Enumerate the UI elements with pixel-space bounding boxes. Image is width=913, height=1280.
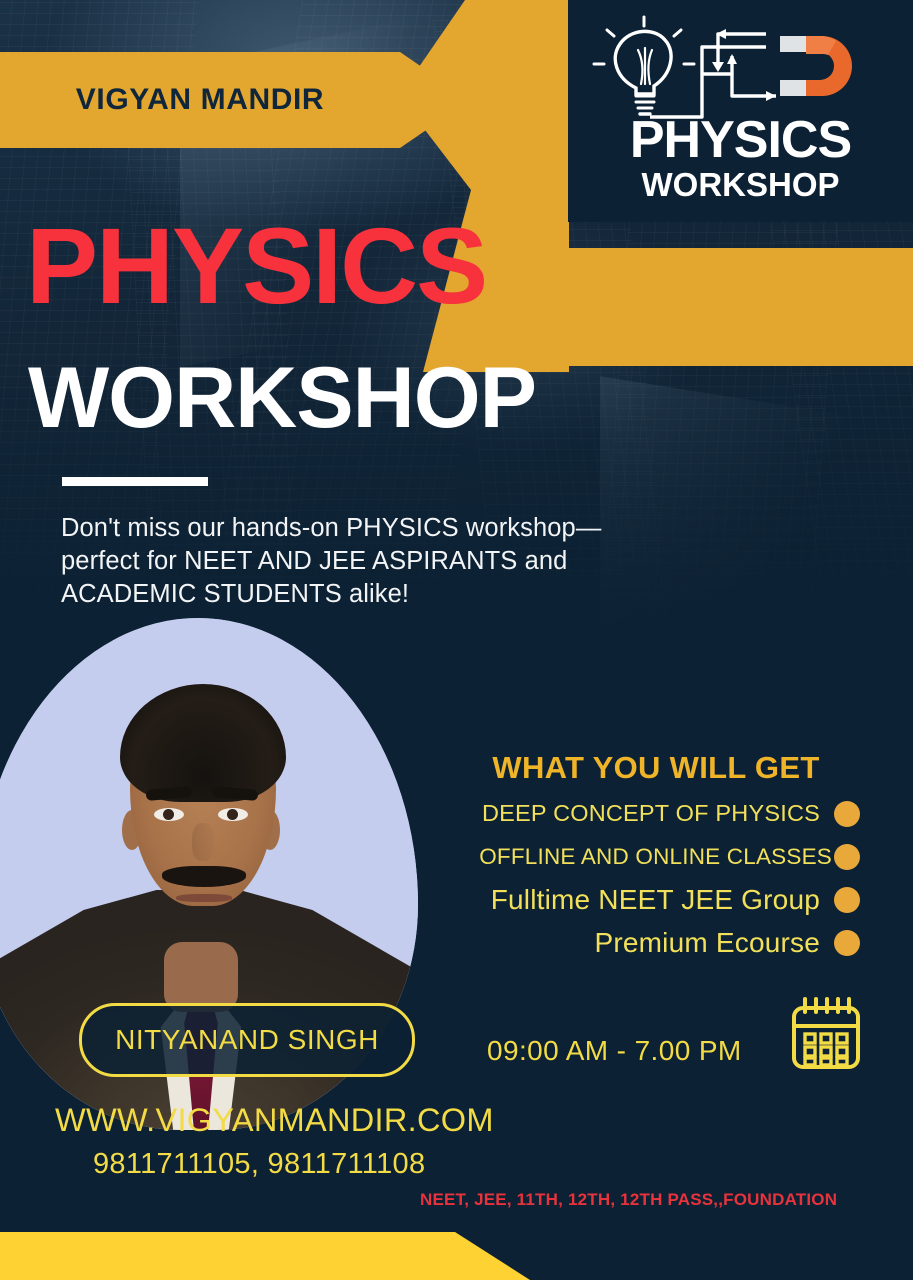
horseshoe-magnet-icon	[780, 36, 852, 96]
description-text: Don't miss our hands-on PHYSICS workshop…	[61, 512, 641, 611]
phone-numbers[interactable]: 9811711105, 9811711108	[93, 1148, 425, 1181]
bullet-dot-icon	[834, 887, 860, 913]
benefit-label: OFFLINE AND ONLINE CLASSES	[479, 844, 832, 870]
presenter-name-badge: NITYANAND SINGH	[79, 1003, 415, 1077]
headline-workshop: WORKSHOP	[28, 355, 536, 441]
benefit-label: Fulltime NEET JEE Group	[491, 884, 820, 916]
photo-nose	[192, 823, 214, 861]
headline-underline	[62, 477, 208, 486]
benefit-item: Fulltime NEET JEE Group	[380, 878, 860, 921]
logo-title: PHYSICS	[568, 116, 913, 165]
bullet-dot-icon	[834, 801, 860, 827]
headline-yellow-band	[505, 248, 913, 366]
benefit-item: DEEP CONCEPT OF PHYSICS	[380, 792, 860, 835]
photo-eye	[154, 808, 184, 821]
benefits-heading: WHAT YOU WILL GET	[453, 750, 859, 786]
benefits-list: DEEP CONCEPT OF PHYSICS OFFLINE AND ONLI…	[380, 792, 860, 964]
logo-subtitle: WORKSHOP	[568, 168, 913, 201]
poster-canvas: VIGYAN MANDIR	[0, 0, 913, 1280]
photo-mouth	[176, 894, 232, 902]
physics-workshop-logo-mark	[580, 14, 900, 122]
lightbulb-icon	[594, 17, 694, 114]
brand-name: VIGYAN MANDIR	[0, 52, 400, 148]
headline-physics: PHYSICS	[26, 212, 486, 320]
bullet-dot-icon	[834, 844, 860, 870]
bullet-dot-icon	[834, 930, 860, 956]
circuit-arrowheads	[712, 29, 776, 101]
footer-course-tags: NEET, JEE, 11TH, 12TH, 12TH PASS,,FOUNDA…	[420, 1190, 837, 1210]
photo-eye	[218, 808, 248, 821]
workshop-time: 09:00 AM - 7.00 PM	[487, 1035, 742, 1067]
benefit-item: OFFLINE AND ONLINE CLASSES	[380, 835, 860, 878]
photo-neck	[164, 942, 238, 1012]
benefit-item: Premium Ecourse	[380, 921, 860, 964]
calendar-icon	[789, 996, 863, 1072]
logo-panel: PHYSICS WORKSHOP	[568, 0, 913, 222]
photo-moustache	[162, 866, 246, 887]
bottom-accent-bar	[0, 1232, 530, 1280]
benefit-label: Premium Ecourse	[594, 927, 820, 959]
website-url[interactable]: WWW.VIGYANMANDIR.COM	[55, 1102, 494, 1139]
presenter-name: NITYANAND SINGH	[115, 1024, 379, 1056]
benefit-label: DEEP CONCEPT OF PHYSICS	[482, 800, 820, 827]
